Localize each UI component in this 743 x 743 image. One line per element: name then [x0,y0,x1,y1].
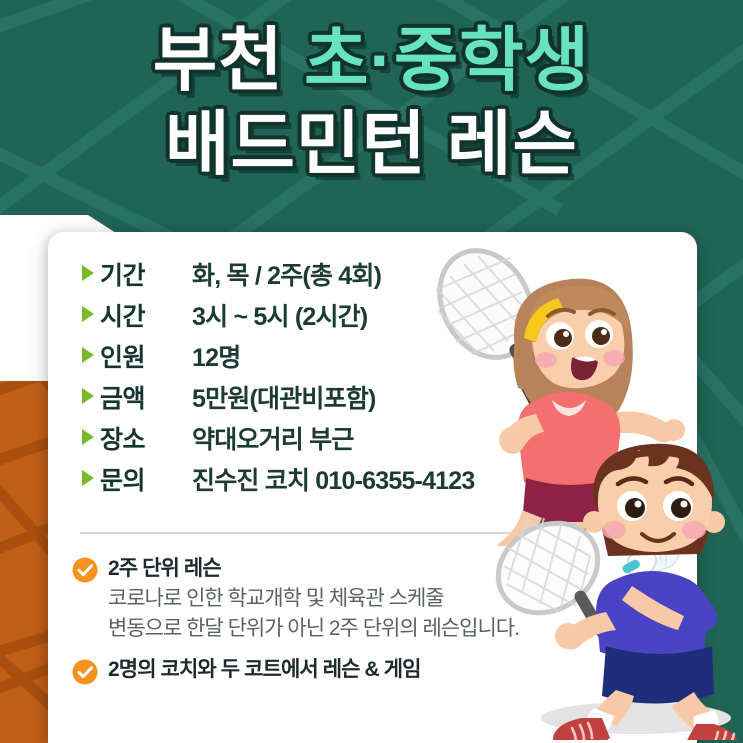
info-label-location: 장소 [100,420,192,456]
info-value-capacity: 12명 [192,338,240,374]
info-value-location: 약대오거리 부근 [192,420,354,456]
info-value-time: 3시 ~ 5시 (2시간) [192,297,367,333]
note-title: 2명의 코치와 두 코트에서 레슨 & 게임 [108,658,421,681]
triangle-right-icon [80,469,100,487]
info-value-price: 5만원(대관비포함) [192,379,376,415]
check-circle-icon [72,557,98,583]
info-label-contact: 문의 [100,461,192,497]
check-circle-icon [72,659,98,685]
note-title: 2주 단위 레슨 [108,557,221,580]
info-label-capacity: 인원 [100,338,192,374]
info-label-price: 금액 [100,379,192,415]
triangle-right-icon [80,428,100,446]
info-label-period: 기간 [100,256,192,292]
poster-root: 부천 초·중학생 배드민턴 레슨 [0,0,743,743]
triangle-right-icon [80,387,100,405]
boy-playing-badminton-illustration [486,440,743,740]
triangle-right-icon [80,264,100,282]
triangle-right-icon [80,346,100,364]
info-value-period: 화, 목 / 2주(총 4회) [192,256,381,292]
triangle-right-icon [80,305,100,323]
info-label-time: 시간 [100,297,192,333]
